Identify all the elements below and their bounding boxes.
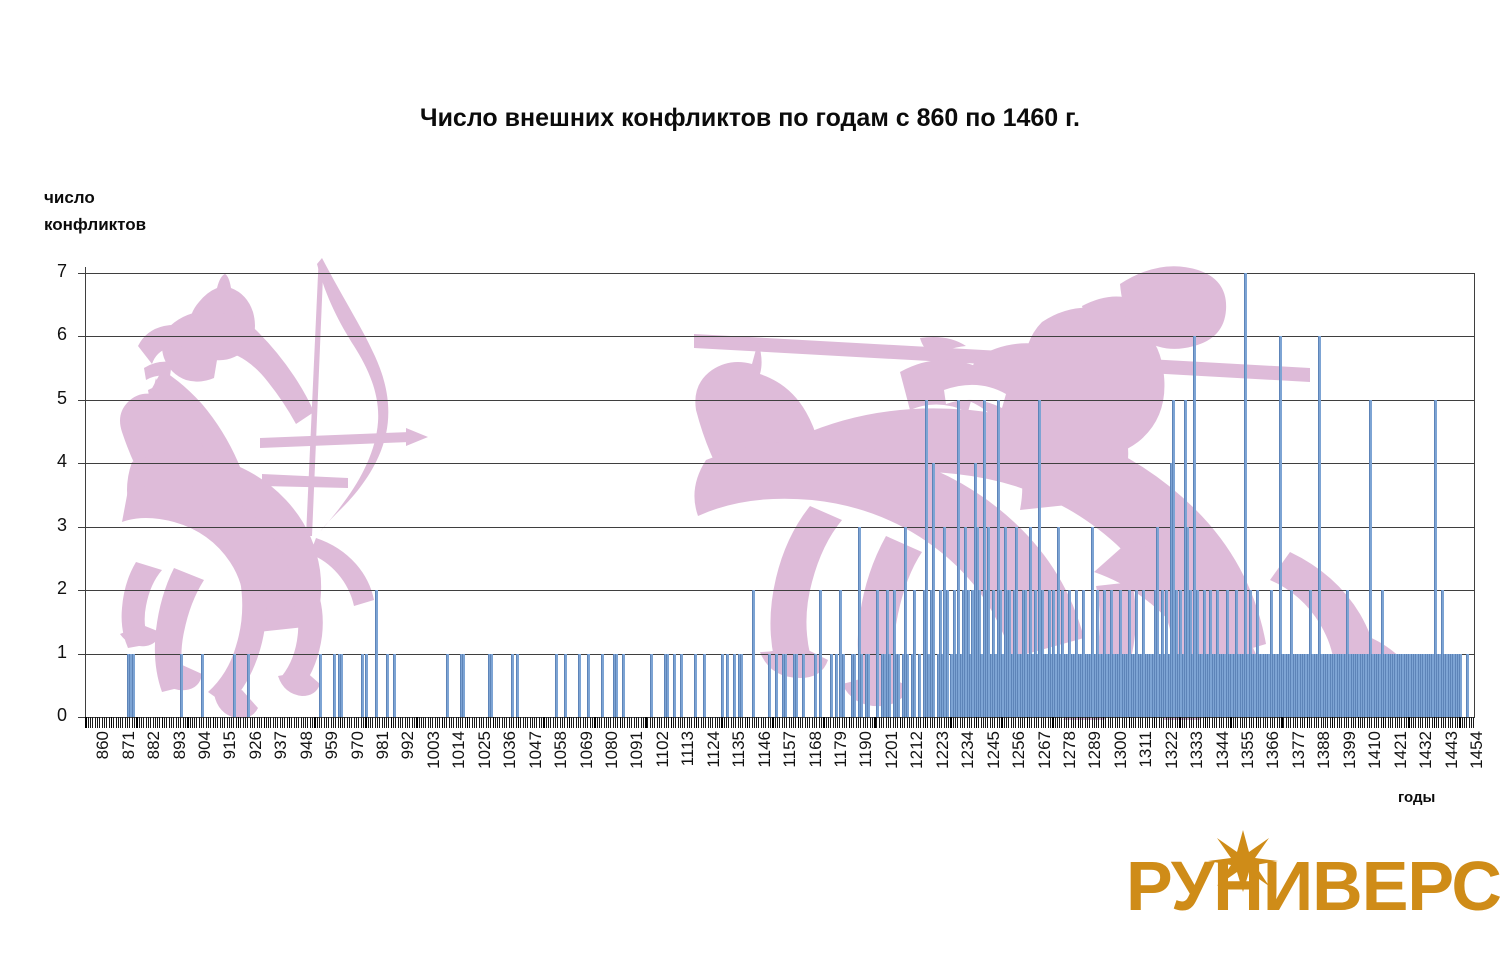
x-tick (324, 717, 325, 728)
x-tick (1441, 717, 1442, 728)
x-tick (916, 717, 917, 728)
x-tick (460, 717, 461, 728)
x-tick-label: 1113 (678, 731, 698, 766)
x-tick (395, 717, 396, 728)
x-tick (682, 717, 683, 728)
x-tick (1108, 717, 1109, 728)
x-tick (643, 717, 644, 728)
x-tick (187, 717, 188, 728)
x-tick (1082, 717, 1083, 728)
x-tick (1142, 717, 1143, 728)
x-tick-label: 1179 (831, 731, 851, 768)
x-tick-label: 1080 (602, 731, 622, 769)
x-tick (659, 717, 660, 728)
x-tick (169, 717, 170, 728)
x-tick (301, 717, 302, 728)
bar (733, 654, 736, 717)
x-tick (795, 717, 796, 728)
x-tick (557, 717, 558, 728)
x-tick (721, 717, 722, 728)
bar (132, 654, 135, 717)
x-tick (680, 717, 681, 728)
x-tick (1434, 717, 1435, 728)
x-tick (950, 717, 951, 728)
bar (775, 654, 778, 717)
x-tick (1186, 717, 1187, 728)
bar (587, 654, 590, 717)
x-tick (800, 717, 801, 728)
x-tick (1348, 717, 1349, 728)
x-tick (705, 717, 706, 728)
x-tick (326, 717, 327, 728)
x-tick (645, 717, 646, 728)
x-tick (1404, 717, 1405, 728)
x-tick (1381, 717, 1382, 728)
x-tick (937, 717, 938, 728)
x-tick (238, 717, 239, 728)
x-tick (853, 717, 854, 728)
x-tick (816, 717, 817, 728)
x-tick (844, 717, 845, 728)
x-tick-label: 1058 (551, 731, 571, 769)
x-tick (287, 717, 288, 728)
x-tick (761, 717, 762, 728)
x-tick (1135, 717, 1136, 728)
x-tick (657, 717, 658, 728)
y-tick-label-3: 3 (37, 515, 67, 536)
x-tick (782, 717, 783, 728)
x-tick (419, 717, 420, 728)
y-axis-title-line2: конфликтов (44, 211, 234, 238)
x-tick (1184, 717, 1185, 728)
x-tick (1330, 717, 1331, 728)
bar (842, 654, 845, 717)
x-tick-label: 1014 (449, 731, 469, 769)
x-tick (1411, 717, 1412, 728)
x-tick (1036, 717, 1037, 728)
x-tick (654, 717, 655, 728)
x-tick (1240, 717, 1241, 728)
x-axis-title: годы (1398, 789, 1435, 806)
x-tick-label: 1190 (856, 731, 876, 768)
x-tick (331, 717, 332, 728)
x-tick (333, 717, 334, 728)
x-tick (1080, 717, 1081, 728)
bar (340, 654, 343, 717)
x-tick (305, 717, 306, 728)
x-tick (518, 717, 519, 728)
x-tick (488, 717, 489, 728)
x-tick (1112, 717, 1113, 728)
bar (247, 654, 250, 717)
x-tick (486, 717, 487, 728)
x-tick (1309, 717, 1310, 728)
x-tick (1138, 717, 1139, 728)
x-tick (772, 717, 773, 728)
x-tick (1311, 717, 1312, 728)
x-tick (994, 717, 995, 728)
bar (888, 654, 891, 717)
x-tick (932, 717, 933, 728)
x-tick (710, 717, 711, 728)
x-tick (1052, 717, 1053, 728)
x-tick (1191, 717, 1192, 728)
x-tick (708, 717, 709, 728)
x-tick (157, 717, 158, 728)
bar (694, 654, 697, 717)
x-tick (1399, 717, 1400, 728)
x-tick (99, 717, 100, 728)
x-tick (497, 717, 498, 728)
x-tick (407, 717, 408, 728)
bar (680, 654, 683, 717)
x-tick (516, 717, 517, 728)
x-tick (592, 717, 593, 728)
x-tick (976, 717, 977, 728)
x-tick (636, 717, 637, 728)
bar (333, 654, 336, 717)
bar (615, 654, 618, 717)
x-tick (1283, 717, 1284, 728)
x-tick (176, 717, 177, 728)
x-tick (264, 717, 265, 728)
x-tick (835, 717, 836, 728)
x-tick (849, 717, 850, 728)
x-tick (863, 717, 864, 728)
x-tick (122, 717, 123, 728)
x-tick (208, 717, 209, 728)
x-tick (194, 717, 195, 728)
x-tick (939, 717, 940, 728)
bar (666, 654, 669, 717)
x-tick (627, 717, 628, 728)
x-tick (779, 717, 780, 728)
x-tick (1237, 717, 1238, 728)
x-tick (1401, 717, 1402, 728)
x-tick (481, 717, 482, 728)
x-tick (382, 717, 383, 728)
x-tick (1140, 717, 1141, 728)
x-tick (805, 717, 806, 728)
x-tick (1397, 717, 1398, 728)
x-tick (638, 717, 639, 728)
x-tick (1159, 717, 1160, 728)
x-tick (1034, 717, 1035, 728)
x-tick-label: 1157 (780, 731, 800, 768)
x-tick (388, 717, 389, 728)
x-tick (900, 717, 901, 728)
x-tick (1323, 717, 1324, 728)
x-tick (1341, 717, 1342, 728)
bar (365, 654, 368, 717)
x-tick (856, 717, 857, 728)
bar (201, 654, 204, 717)
x-tick (1337, 717, 1338, 728)
bar (768, 654, 771, 717)
x-tick (120, 717, 121, 728)
x-tick (997, 717, 998, 728)
x-tick (923, 717, 924, 728)
x-tick (106, 717, 107, 728)
x-tick (456, 717, 457, 728)
x-tick (178, 717, 179, 728)
x-tick (719, 717, 720, 728)
y-tick-label-6: 6 (37, 324, 67, 345)
x-tick (987, 717, 988, 728)
x-tick (842, 717, 843, 728)
x-tick (1279, 717, 1280, 728)
x-tick (338, 717, 339, 728)
x-tick (895, 717, 896, 728)
x-tick (867, 717, 868, 728)
x-tick (1200, 717, 1201, 728)
x-tick (837, 717, 838, 728)
x-tick (370, 717, 371, 728)
x-tick (1390, 717, 1391, 728)
x-tick (344, 717, 345, 728)
x-tick (1249, 717, 1250, 728)
x-tick-label: 1278 (1060, 731, 1080, 769)
x-tick (1288, 717, 1289, 728)
x-tick (439, 717, 440, 728)
x-tick (1418, 717, 1419, 728)
x-tick (247, 717, 248, 728)
x-tick (1233, 717, 1234, 728)
x-tick-label: 1245 (984, 731, 1004, 769)
x-tick (1168, 717, 1169, 728)
x-tick (617, 717, 618, 728)
x-tick (550, 717, 551, 728)
x-tick (1293, 717, 1294, 728)
bar (564, 654, 567, 717)
x-tick (897, 717, 898, 728)
x-tick (141, 717, 142, 728)
x-tick (134, 717, 135, 728)
x-tick (162, 717, 163, 728)
x-tick (363, 717, 364, 728)
x-tick (1462, 717, 1463, 728)
x-tick (1344, 717, 1345, 728)
bar (703, 654, 706, 717)
x-tick (1214, 717, 1215, 728)
x-tick (97, 717, 98, 728)
x-tick (294, 717, 295, 728)
y-tick-mark-6 (78, 336, 85, 337)
x-tick (668, 717, 669, 728)
x-tick (893, 717, 894, 728)
x-axis-ticks (85, 717, 1475, 728)
x-tick (777, 717, 778, 728)
x-tick (1297, 717, 1298, 728)
x-tick (351, 717, 352, 728)
x-tick (543, 717, 544, 728)
x-tick (1182, 717, 1183, 728)
x-tick (465, 717, 466, 728)
x-tick (601, 717, 602, 728)
x-tick (1425, 717, 1426, 728)
bar (814, 654, 817, 717)
x-tick (742, 717, 743, 728)
x-tick (1156, 717, 1157, 728)
x-tick (109, 717, 110, 728)
x-tick (1408, 717, 1409, 728)
x-tick (946, 717, 947, 728)
x-tick-label: 1366 (1263, 731, 1283, 769)
y-tick-mark-0 (78, 717, 85, 718)
x-tick (539, 717, 540, 728)
chart-root: Число внешних конфликтов по годам с 860 … (0, 0, 1500, 975)
x-tick (250, 717, 251, 728)
x-tick (1089, 717, 1090, 728)
runivers-logo[interactable]: РУНИВЕРС (1122, 828, 1482, 928)
x-tick (615, 717, 616, 728)
x-tick (1098, 717, 1099, 728)
x-tick-label: 970 (348, 731, 368, 759)
x-tick (888, 717, 889, 728)
logo-text: РУНИВЕРС (1126, 846, 1500, 926)
x-tick-label: 1311 (1136, 731, 1156, 768)
x-tick (92, 717, 93, 728)
bar (932, 463, 935, 717)
x-tick (981, 717, 982, 728)
x-tick (1203, 717, 1204, 728)
x-tick-label: 1388 (1314, 731, 1334, 769)
x-tick (291, 717, 292, 728)
x-tick (1031, 717, 1032, 728)
x-tick (999, 717, 1000, 728)
x-tick (159, 717, 160, 728)
x-tick (1038, 717, 1039, 728)
x-tick (992, 717, 993, 728)
x-tick (833, 717, 834, 728)
x-tick (957, 717, 958, 728)
x-tick (944, 717, 945, 728)
x-tick (1205, 717, 1206, 728)
x-tick (791, 717, 792, 728)
x-tick (955, 717, 956, 728)
x-tick (671, 717, 672, 728)
y-tick-label-2: 2 (37, 578, 67, 599)
x-tick-label: 937 (271, 731, 291, 759)
x-tick (190, 717, 191, 728)
x-tick (472, 717, 473, 728)
bar (721, 654, 724, 717)
x-tick (1170, 717, 1171, 728)
x-tick (641, 717, 642, 728)
x-tick (802, 717, 803, 728)
x-tick (717, 717, 718, 728)
x-tick (826, 717, 827, 728)
x-tick (1050, 717, 1051, 728)
x-tick (1071, 717, 1072, 728)
x-tick (902, 717, 903, 728)
x-tick (941, 717, 942, 728)
x-tick (252, 717, 253, 728)
x-tick (1364, 717, 1365, 728)
x-tick (1415, 717, 1416, 728)
x-tick-label: 1421 (1391, 731, 1411, 769)
x-tick (1371, 717, 1372, 728)
x-tick (132, 717, 133, 728)
x-tick (1450, 717, 1451, 728)
x-tick (377, 717, 378, 728)
bar (446, 654, 449, 717)
y-tick-label-0: 0 (37, 705, 67, 726)
x-tick (1087, 717, 1088, 728)
x-tick (1129, 717, 1130, 728)
x-tick (446, 717, 447, 728)
x-tick (499, 717, 500, 728)
x-tick-label: 1300 (1111, 731, 1131, 769)
bar (802, 654, 805, 717)
x-tick (1022, 717, 1023, 728)
x-tick (904, 717, 905, 728)
x-tick (425, 717, 426, 728)
bar (795, 654, 798, 717)
x-tick-label: 1168 (806, 731, 826, 768)
y-tick-label-7: 7 (37, 261, 67, 282)
bar-series (85, 273, 1475, 717)
x-tick (504, 717, 505, 728)
x-tick (435, 717, 436, 728)
x-tick (270, 717, 271, 728)
x-tick (1246, 717, 1247, 728)
bar (784, 654, 787, 717)
x-tick-label: 1344 (1213, 731, 1233, 769)
x-tick (437, 717, 438, 728)
x-tick (275, 717, 276, 728)
x-tick (1117, 717, 1118, 728)
x-tick-label: 1289 (1085, 731, 1105, 769)
y-tick-mark-5 (78, 400, 85, 401)
x-tick (1166, 717, 1167, 728)
x-tick (1473, 717, 1474, 728)
x-tick (971, 717, 972, 728)
bar (830, 654, 833, 717)
x-tick (731, 717, 732, 728)
x-tick (268, 717, 269, 728)
x-tick (298, 717, 299, 728)
x-tick-label: 904 (195, 731, 215, 759)
x-tick (1078, 717, 1079, 728)
x-tick-label: 1201 (882, 731, 902, 769)
x-tick (1119, 717, 1120, 728)
x-tick (1161, 717, 1162, 728)
x-tick (689, 717, 690, 728)
x-tick (1316, 717, 1317, 728)
x-tick (1302, 717, 1303, 728)
x-tick (1307, 717, 1308, 728)
x-tick (1429, 717, 1430, 728)
x-tick-label: 1212 (907, 731, 927, 769)
x-tick (608, 717, 609, 728)
x-tick (1226, 717, 1227, 728)
x-tick (694, 717, 695, 728)
bar (578, 654, 581, 717)
bar (516, 654, 519, 717)
x-tick (1376, 717, 1377, 728)
x-tick (227, 717, 228, 728)
x-tick (807, 717, 808, 728)
x-tick (1145, 717, 1146, 728)
x-tick (111, 717, 112, 728)
x-tick (217, 717, 218, 728)
x-tick (1122, 717, 1123, 728)
x-tick (412, 717, 413, 728)
x-tick (1413, 717, 1414, 728)
x-tick (1147, 717, 1148, 728)
x-tick (1457, 717, 1458, 728)
